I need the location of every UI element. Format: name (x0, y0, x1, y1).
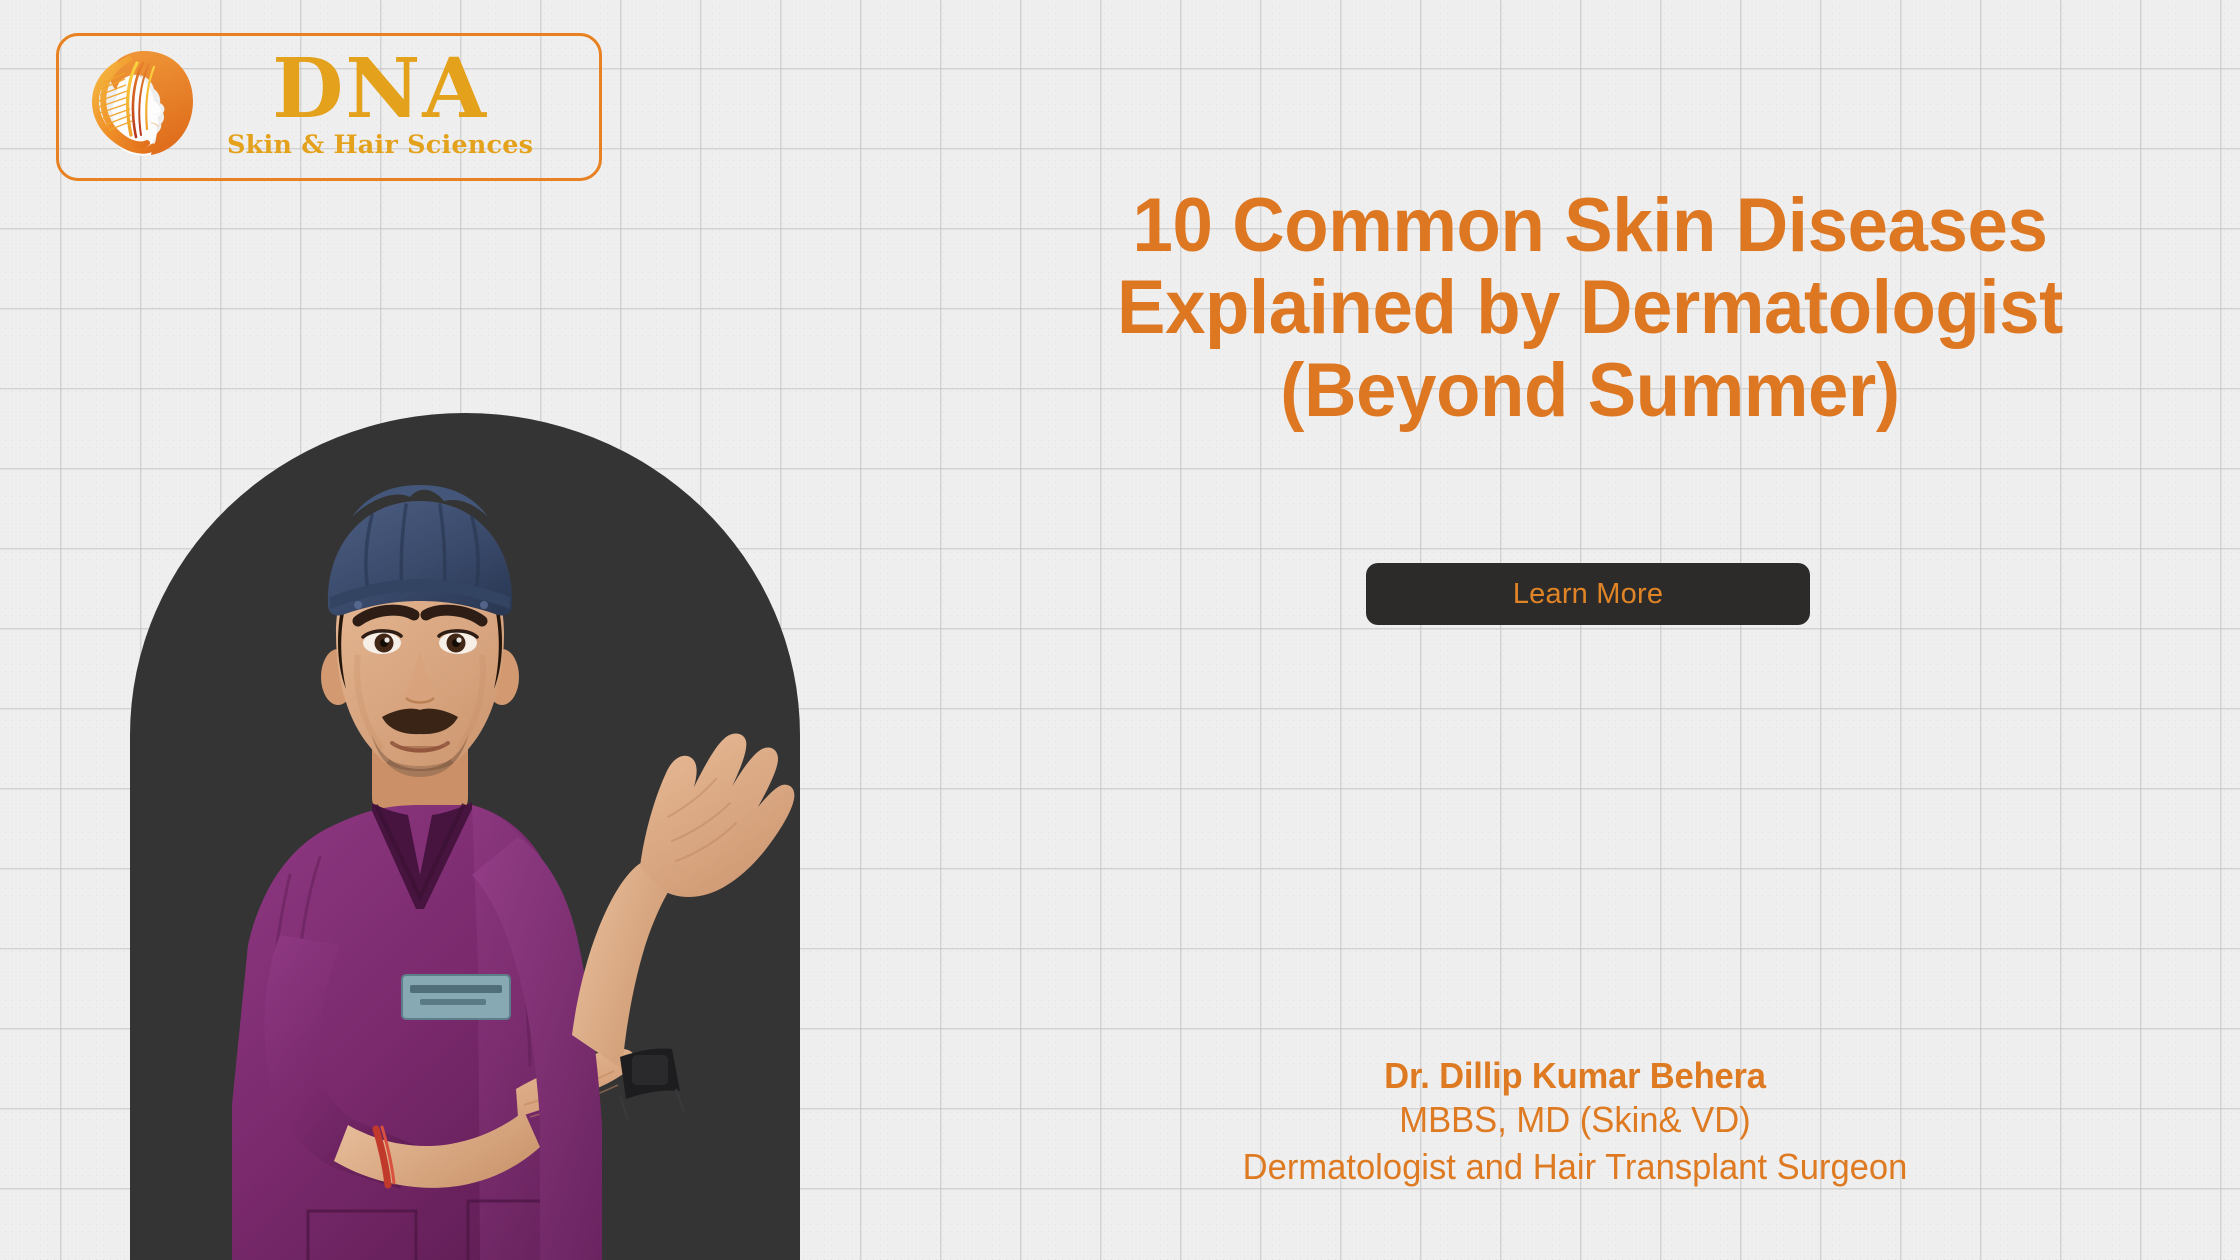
doctor-role: Dermatologist and Hair Transplant Surgeo… (1081, 1144, 2070, 1191)
brand-wordmark: DNA Skin & Hair Sciences (227, 54, 533, 160)
learn-more-button[interactable]: Learn More (1366, 563, 1810, 625)
brand-tagline: Skin & Hair Sciences (227, 130, 533, 160)
page-title: 10 Common Skin Diseases Explained by Der… (1010, 185, 2170, 432)
poster-canvas: DNA Skin & Hair Sciences (0, 0, 2240, 1260)
doctor-degree: MBBS, MD (Skin& VD) (1081, 1097, 2070, 1144)
brand-logo-card[interactable]: DNA Skin & Hair Sciences (56, 33, 602, 181)
brand-name: DNA (272, 54, 488, 125)
doctor-portrait (120, 405, 820, 1260)
doctor-credentials: Dr. Dillip Kumar Behera MBBS, MD (Skin& … (1060, 1055, 2090, 1191)
dna-helix-woman-profile-icon (81, 43, 215, 171)
headline-line-1: 10 Common Skin Diseases (1036, 185, 2144, 267)
doctor-name: Dr. Dillip Kumar Behera (1081, 1055, 2070, 1097)
name-badge (402, 975, 510, 1019)
headline-line-3: (Beyond Summer) (1036, 350, 2144, 432)
headline-line-2: Explained by Dermatologist (1036, 267, 2144, 349)
